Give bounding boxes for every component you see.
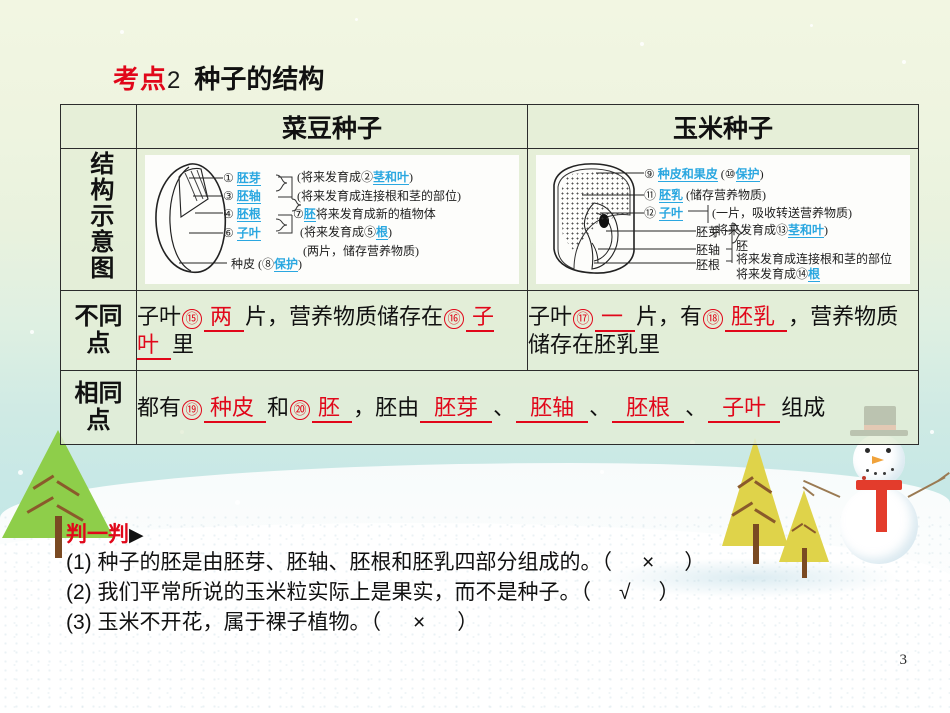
snowflake-icon: [902, 60, 906, 64]
snowflake-icon: [355, 18, 358, 21]
title-prefix: 考点: [113, 64, 167, 94]
corn-label-11: ⑪ 胚乳 (储存营养物质): [644, 186, 766, 203]
bean-note-1: (将来发育成②茎和叶): [297, 168, 413, 185]
snowflake-icon: [235, 500, 240, 505]
judge-quiz-section: 判一判▶ (1) 种子的胚是由胚芽、胚轴、胚根和胚乳四部分组成的。（×） (2)…: [66, 518, 906, 637]
quiz-item: (2) 我们平常所说的玉米粒实际上是果实，而不是种子。（√）: [66, 578, 906, 608]
cell-corn-differences: 子叶⑰一片，有⑱胚乳，营养物质储存在胚乳里: [528, 291, 919, 371]
page-number: 3: [900, 652, 908, 669]
bean-note-3: (将来发育成⑤根): [300, 223, 392, 240]
title-number: 2: [167, 67, 180, 94]
header-corner: [61, 105, 137, 149]
bean-seed-diagram: ① 胚芽 ③ 胚轴 ④ 胚根 ⑥ 子叶: [145, 155, 519, 284]
slide-canvas: 考点2种子的结构 菜豆种子 玉米种子 结构示意图: [0, 0, 950, 713]
answer-mark: √: [591, 581, 659, 604]
snowman-mouth-dot: [891, 468, 894, 471]
corn-note-radicle: 将来发育成⑭根: [736, 265, 820, 282]
cell-similarities: 都有⑲种皮和⑳胚，胚由胚芽、胚轴、胚根、子叶组成: [137, 371, 919, 445]
bean-note-2: (将来发育成连接根和茎的部位): [297, 187, 461, 204]
page-title: 考点2种子的结构: [113, 66, 324, 93]
snowman-mouth-dot: [874, 472, 877, 475]
quiz-item: (3) 玉米不开花，属于裸子植物。（×）: [66, 608, 906, 638]
bean-label-4: ④ 胚根: [223, 205, 261, 222]
cell-corn-diagram: ⑨ 种皮和果皮 (⑩保护) ⑪ 胚乳 (储存营养物质) ⑫ 子叶: [528, 149, 919, 291]
bean-label-seedcoat: 种皮 (⑧保护): [231, 255, 302, 272]
corn-label-9: ⑨ 种皮和果皮 (⑩保护): [644, 165, 764, 182]
answer-mark: ×: [381, 611, 457, 634]
table-row-similarities: 相同点 都有⑲种皮和⑳胚，胚由胚芽、胚轴、胚根、子叶组成: [61, 371, 919, 445]
snowflake-icon: [640, 42, 644, 46]
table-header-row: 菜豆种子 玉米种子: [61, 105, 919, 149]
corn-note-cotyledon: (一片，吸收转送营养物质): [712, 204, 852, 221]
snowman-button: [862, 476, 866, 480]
answer-mark: ×: [612, 551, 684, 574]
bean-label-3: ③ 胚轴: [223, 187, 261, 204]
snowflake-icon: [600, 470, 604, 474]
corn-seed-diagram: ⑨ 种皮和果皮 (⑩保护) ⑪ 胚乳 (储存营养物质) ⑫ 子叶: [536, 155, 910, 284]
cell-bean-differences: 子叶⑮两片，营养物质储存在⑯子叶里: [137, 291, 528, 371]
corn-part-radicle: 胚根: [696, 256, 720, 273]
quiz-title: 判一判▶: [66, 518, 906, 548]
seed-structure-table: 菜豆种子 玉米种子 结构示意图: [60, 104, 919, 445]
header-corn-seed: 玉米种子: [528, 105, 919, 149]
snowman-arm-right-twig: [937, 472, 950, 482]
snowman-eye-left: [865, 448, 870, 453]
corn-label-12: ⑫ 子叶: [644, 204, 683, 221]
quiz-item: (1) 种子的胚是由胚芽、胚轴、胚根和胚乳四部分组成的。（×）: [66, 548, 906, 578]
title-name: 种子的结构: [194, 64, 324, 94]
cell-bean-diagram: ① 胚芽 ③ 胚轴 ④ 胚根 ⑥ 子叶: [137, 149, 528, 291]
snowflake-icon: [30, 330, 34, 334]
bean-label-1: ① 胚芽: [223, 169, 261, 186]
triangle-right-icon: ▶: [129, 525, 144, 546]
table-row-differences: 不同点 子叶⑮两片，营养物质储存在⑯子叶里 子叶⑰一片，有⑱胚乳，营养物质储存在…: [61, 291, 919, 371]
corn-part-plumule: 胚芽: [696, 223, 720, 240]
rowlabel-structure-diagram: 结构示意图: [61, 149, 137, 291]
snowman-carrot-nose-icon: [872, 456, 884, 464]
snowman-eye-right: [886, 448, 891, 453]
snowflake-icon: [120, 30, 124, 34]
snowflake-icon: [810, 24, 813, 27]
header-bean-seed: 菜豆种子: [137, 105, 528, 149]
bean-note-4: (两片，储存营养物质): [303, 242, 419, 259]
rowlabel-similarities: 相同点: [61, 371, 137, 445]
table-row-diagram: 结构示意图: [61, 149, 919, 291]
bean-note-embryo: ⑦胚将来发育成新的植物体: [293, 205, 436, 222]
bean-label-6: ⑥ 子叶: [223, 224, 261, 241]
corn-note-plumule: (将来发育成⑬茎和叶): [712, 221, 828, 238]
snowman-mouth-dot: [866, 469, 869, 472]
snowman-mouth-dot: [883, 472, 886, 475]
rowlabel-differences: 不同点: [61, 291, 137, 371]
